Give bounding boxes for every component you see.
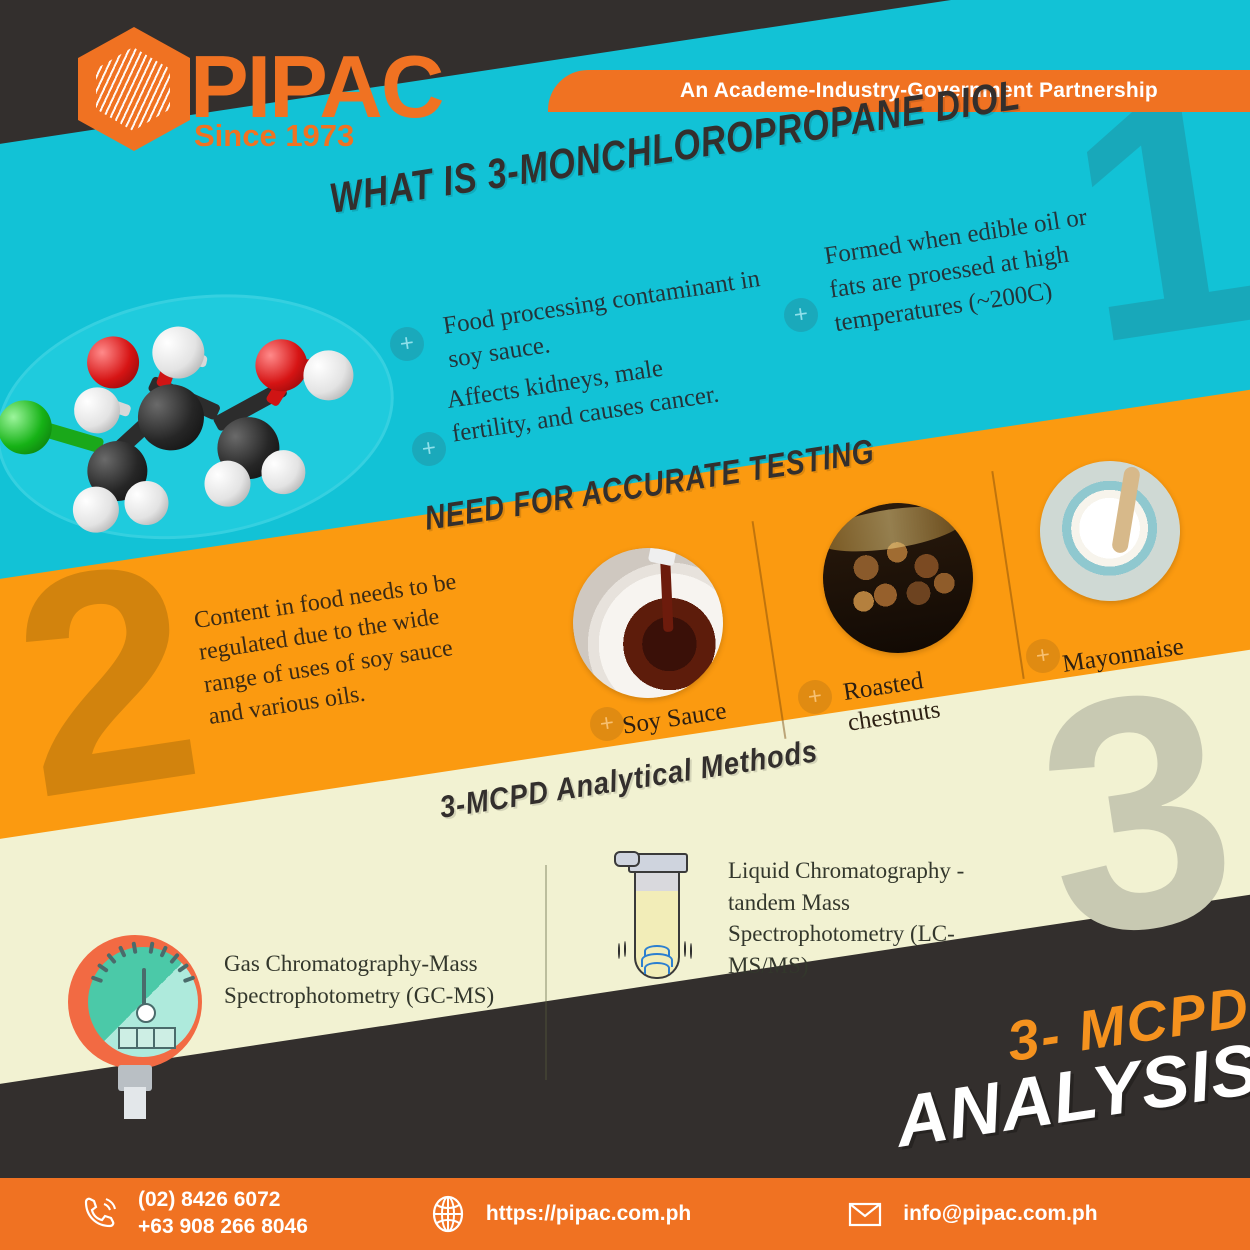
footer-email[interactable]: info@pipac.com.ph [843, 1192, 1097, 1236]
footer-phone[interactable]: (02) 8426 6072 +63 908 266 8046 [78, 1187, 308, 1241]
envelope-icon [843, 1192, 887, 1236]
pressure-gauge-icon [60, 935, 210, 1120]
centrifuge-tube-icon [612, 845, 698, 985]
divider [545, 865, 547, 1080]
phone-icon [78, 1192, 122, 1236]
globe-icon [426, 1192, 470, 1236]
footer-phone-line-2: +63 908 266 8046 [138, 1214, 308, 1241]
footer-website-text: https://pipac.com.ph [486, 1201, 691, 1228]
footer-website[interactable]: https://pipac.com.ph [426, 1192, 691, 1236]
section-3-number: 3 [1026, 668, 1247, 956]
method-label-lc-ms-ms: Liquid Chromatography - tandem Mass Spec… [728, 855, 1018, 982]
section-2-number: 2 [2, 544, 210, 815]
footer-bar: (02) 8426 6072 +63 908 266 8046 https://… [0, 1178, 1250, 1250]
footer-email-text: info@pipac.com.ph [903, 1201, 1097, 1228]
hexagon-cube-icon [78, 27, 190, 151]
infographic-canvas: 1 2 3 PIPAC Since 1973 An Academe-Indust… [0, 0, 1250, 1250]
method-label-gc-ms: Gas Chromatography-Mass Spectrophotometr… [224, 948, 524, 1011]
footer-phone-line-1: (02) 8426 6072 [138, 1187, 308, 1214]
brand-tagline: Since 1973 [194, 118, 354, 154]
